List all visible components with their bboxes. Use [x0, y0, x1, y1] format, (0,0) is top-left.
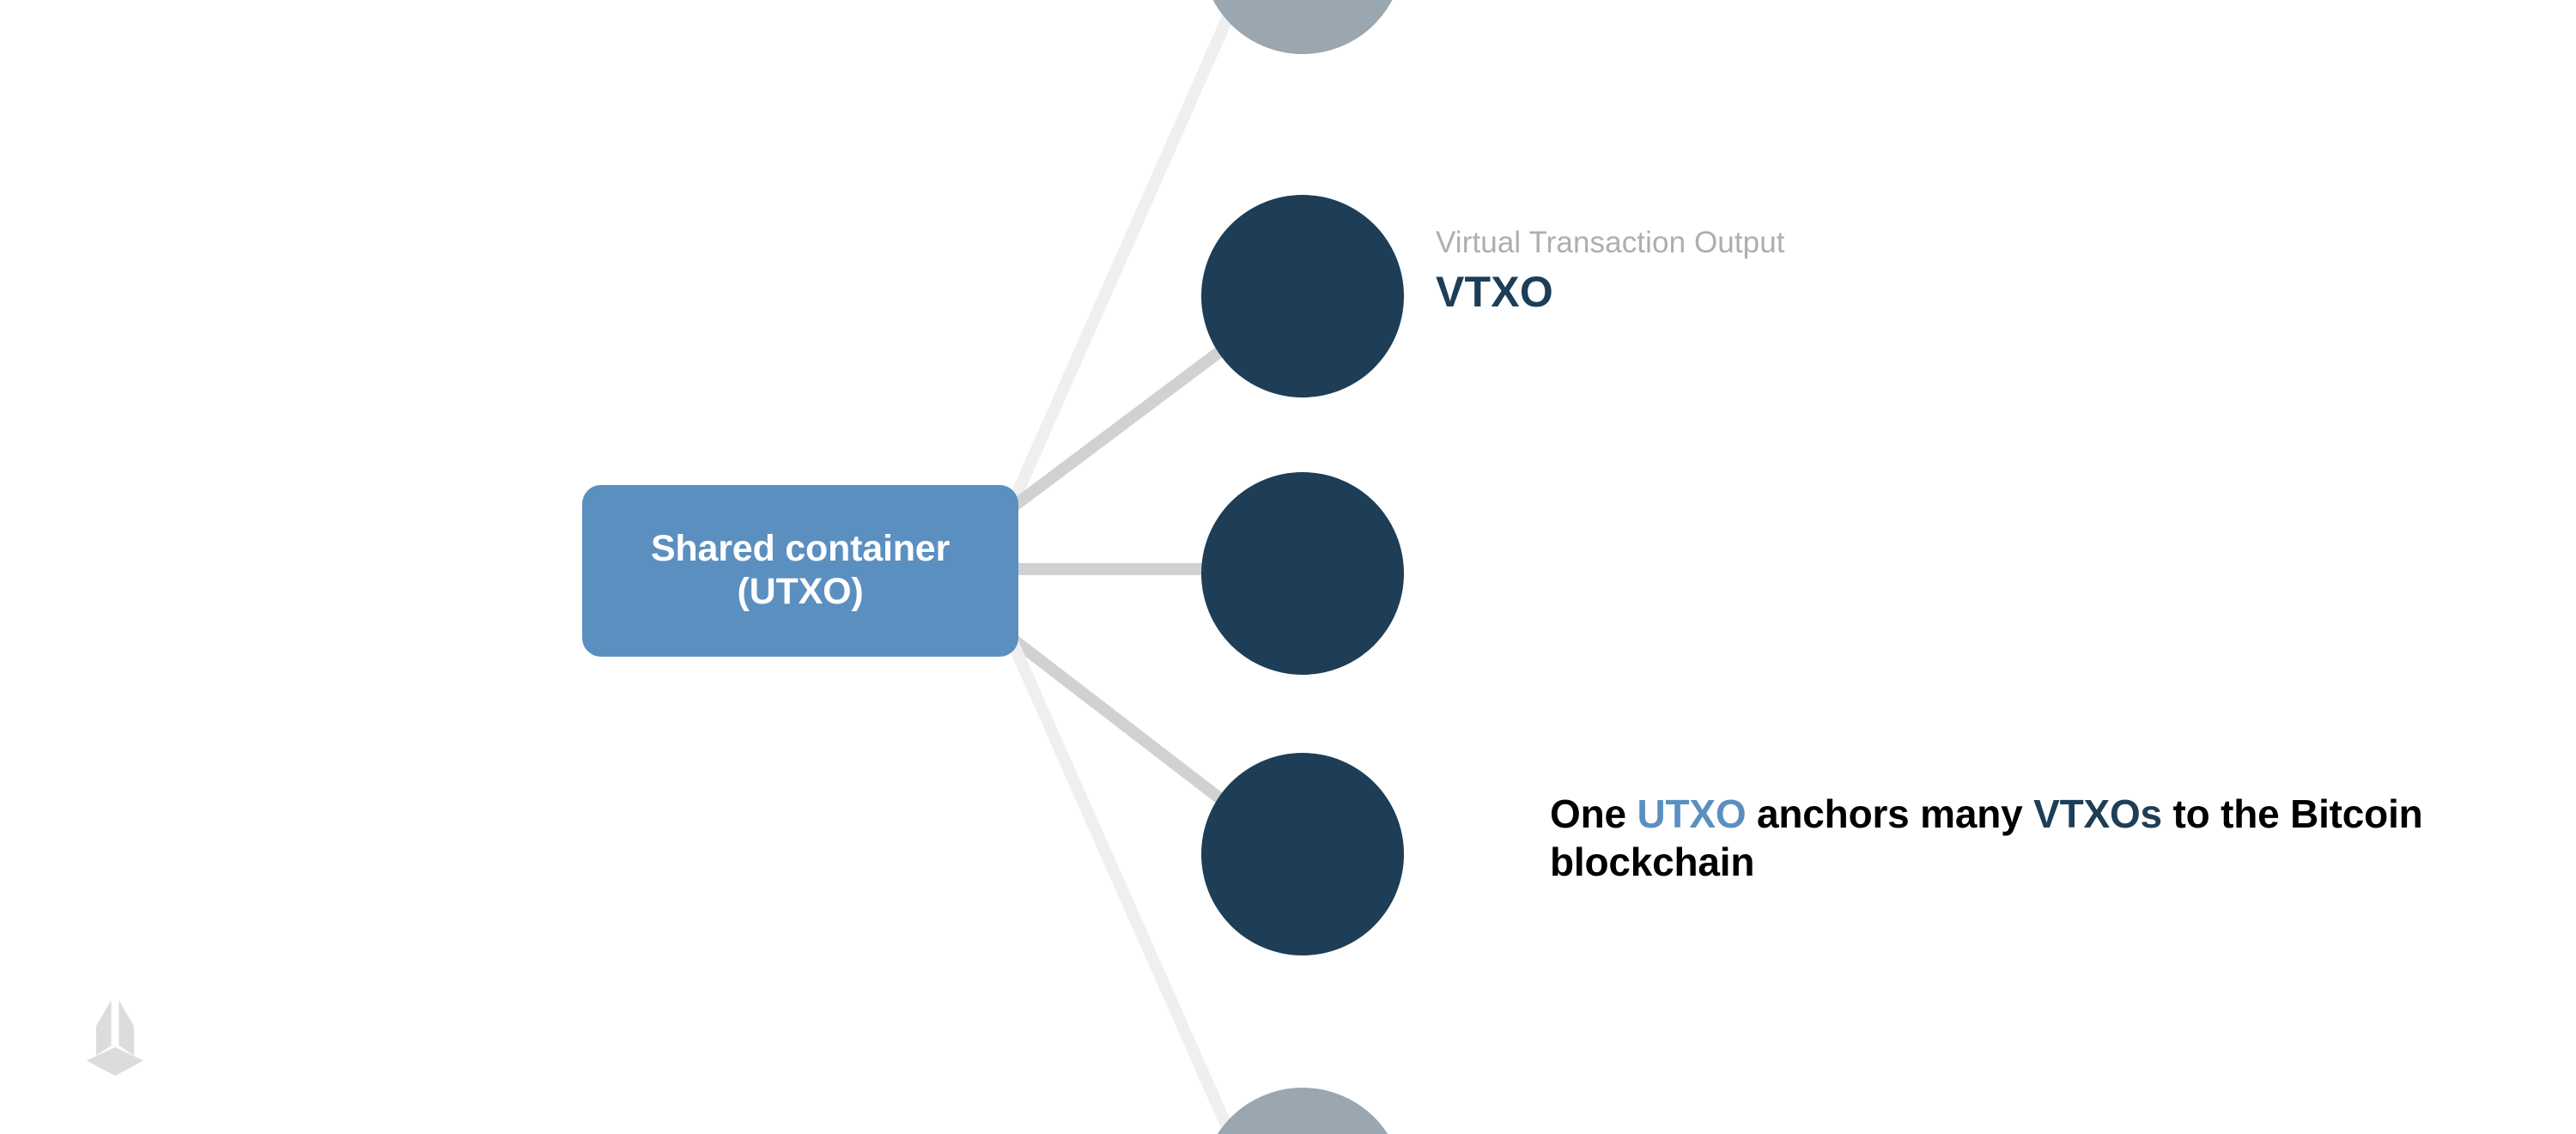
- shared-container-label: Shared container (UTXO): [651, 528, 950, 614]
- brand-logo-icon: [73, 998, 157, 1082]
- vtxo-node-1[interactable]: [1201, 195, 1404, 397]
- vtxo-node-3[interactable]: [1201, 753, 1404, 955]
- caption-part-two: anchors many: [1746, 791, 2033, 836]
- caption-highlight-utxo: UTXO: [1637, 791, 1746, 836]
- vtxo-node-2[interactable]: [1201, 472, 1404, 675]
- vtxo-annotation: Virtual Transaction Output VTXO: [1436, 225, 1785, 318]
- vtxo-kicker-label: Virtual Transaction Output: [1436, 225, 1785, 261]
- vtxo-headline: VTXO: [1436, 266, 1785, 318]
- caption-highlight-vtxos: VTXOs: [2033, 791, 2162, 836]
- caption-part-one: One: [1550, 791, 1637, 836]
- slide-canvas: Shared container (UTXO) Virtual Transact…: [0, 0, 2576, 1134]
- caption-text: One UTXO anchors many VTXOs to the Bitco…: [1550, 790, 2494, 886]
- shared-container-utxo-box[interactable]: Shared container (UTXO): [582, 485, 1018, 657]
